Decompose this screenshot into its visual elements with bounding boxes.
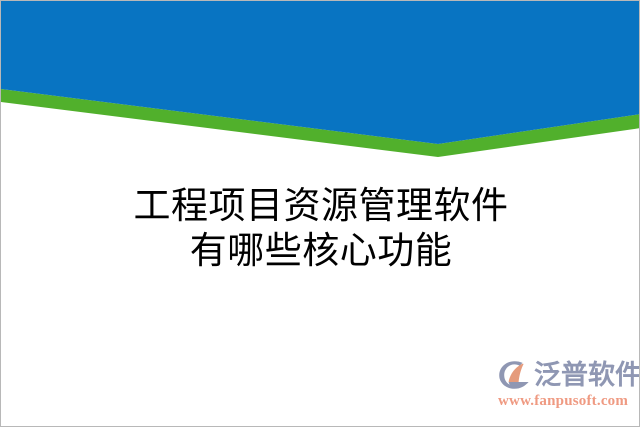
brand-url: www.fanpusoft.com — [498, 393, 628, 410]
page-title-line-2: 有哪些核心功能 — [1, 229, 640, 274]
page-title: 工程项目资源管理软件 有哪些核心功能 — [1, 184, 640, 274]
banner-blue-shape — [1, 1, 640, 144]
brand-name: 泛普软件 — [534, 362, 640, 389]
brand-logo: 泛普软件 www.fanpusoft.com — [497, 356, 633, 418]
slide-canvas: 工程项目资源管理软件 有哪些核心功能 泛普软件 www.fanpusoft.co… — [0, 0, 640, 427]
brand-logo-row: 泛普软件 — [497, 356, 640, 394]
header-banner — [1, 1, 640, 171]
page-title-line-1: 工程项目资源管理软件 — [1, 184, 640, 229]
fanpu-swoosh-icon — [497, 359, 531, 391]
